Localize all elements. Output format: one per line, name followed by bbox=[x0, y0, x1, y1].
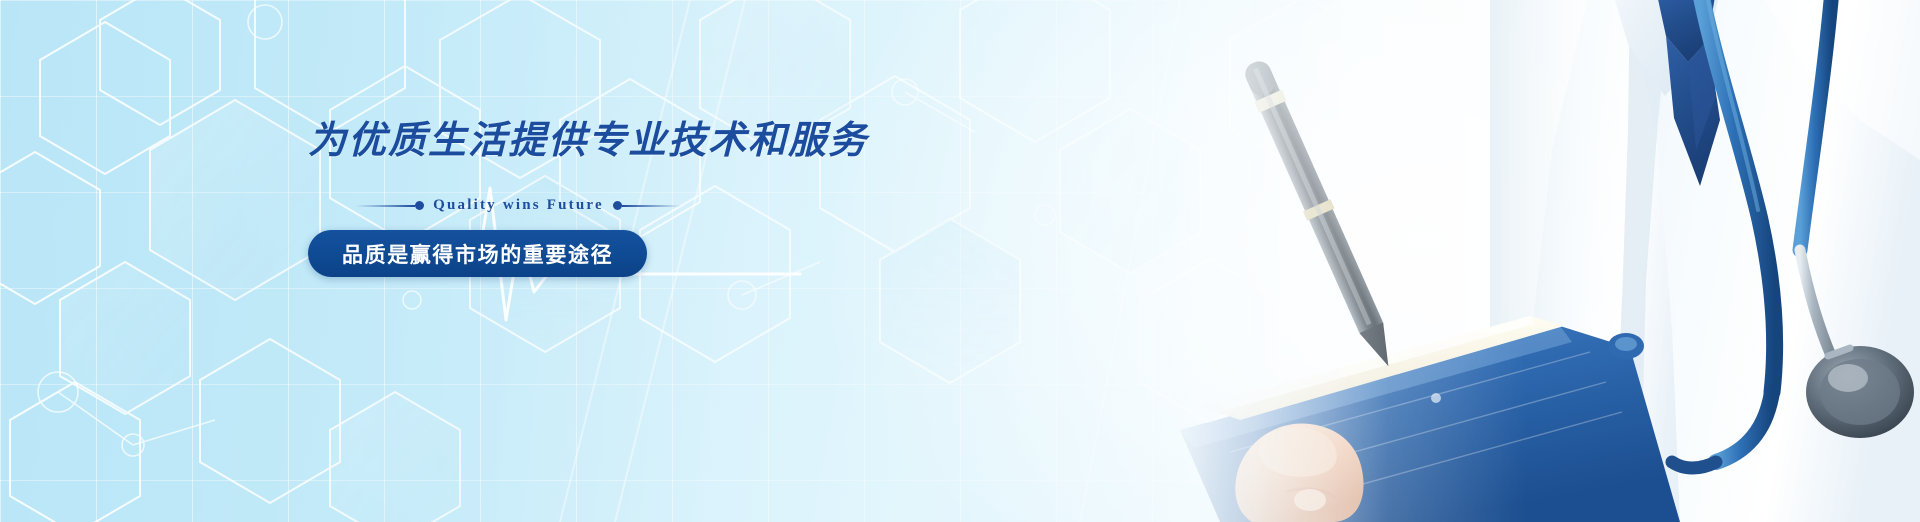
tagline-dot-left bbox=[415, 201, 424, 210]
doctor-photo bbox=[1160, 0, 1920, 522]
cta-button[interactable]: 品质是赢得市场的重要途径 bbox=[308, 230, 647, 277]
tagline-rule-left bbox=[356, 205, 415, 207]
banner-content: 为优质生活提供专业技术和服务 Quality wins Future 品质是赢得… bbox=[308, 122, 1028, 277]
tagline-text: Quality wins Future bbox=[424, 197, 613, 214]
page-title: 为优质生活提供专业技术和服务 bbox=[308, 122, 1028, 160]
tagline-rule-right bbox=[622, 205, 681, 207]
tagline-row: Quality wins Future bbox=[356, 197, 681, 214]
hero-banner: 为优质生活提供专业技术和服务 Quality wins Future 品质是赢得… bbox=[0, 0, 1920, 522]
tagline-dot-right bbox=[613, 201, 622, 210]
